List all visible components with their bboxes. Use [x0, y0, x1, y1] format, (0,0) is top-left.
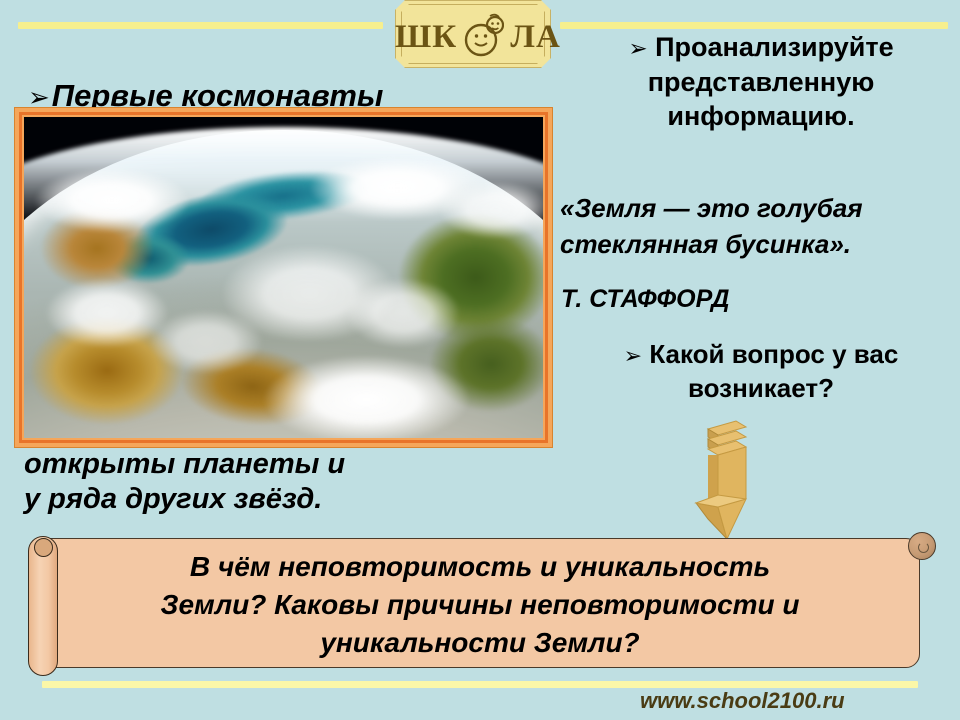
quote-line-1: «Земля — это голубая	[560, 190, 956, 226]
cloud-4	[263, 355, 471, 438]
bullet-arrow-icon: ➢	[624, 343, 642, 368]
scroll-line-1: В чём неповторимость и уникальность	[52, 548, 908, 586]
logo-text-right: ЛА	[510, 19, 560, 55]
scroll-question-text: В чём неповторимость и уникальность Земл…	[52, 548, 908, 662]
quote-line-2: стеклянная бусинка».	[560, 226, 956, 262]
question-line-2: возникает?	[688, 373, 834, 403]
earth-from-orbit-photo	[24, 117, 543, 438]
question-line-1: Какой вопрос у вас	[649, 339, 898, 369]
bullet-arrow-icon: ➢	[628, 35, 647, 61]
instruction-block: ➢ Проанализируйте представленную информа…	[566, 30, 956, 133]
earth-photo-frame	[14, 107, 553, 448]
left-tail-line-1: открыты планеты и	[24, 447, 554, 482]
top-right-accent-rule	[560, 22, 948, 29]
scroll-curl-left	[34, 538, 53, 557]
footer-url: www.school2100.ru	[640, 688, 845, 714]
question-block: ➢ Какой вопрос у вас возникает?	[566, 338, 956, 405]
cloud-1	[34, 168, 190, 232]
scroll-roll-right	[908, 532, 936, 560]
school2100-smiley-logo-icon	[462, 12, 504, 58]
top-left-accent-rule	[18, 22, 383, 29]
scroll-line-2: Земли? Каковы причины неповторимости и	[52, 586, 908, 624]
left-tail-text: открыты планеты и у ряда других звёзд.	[24, 447, 554, 517]
presentation-slide: ШК ЛА ➢Первые космонавты	[0, 0, 960, 720]
cloud-6	[346, 278, 460, 349]
instruction-line-3: информацию.	[667, 101, 854, 131]
scroll-line-3: уникальности Земли?	[52, 624, 908, 662]
instruction-line-2: представленную	[648, 67, 875, 97]
earth-photo-inner-frame	[19, 112, 548, 443]
quote-block: «Земля — это голубая стеклянная бусинка»…	[560, 190, 956, 262]
scroll-banner: В чём неповторимость и уникальность Земл…	[12, 530, 948, 676]
down-arrow-3d-icon	[690, 415, 764, 543]
logo-text-left: ШК	[395, 19, 457, 55]
instruction-line-1: Проанализируйте	[655, 32, 894, 62]
bottom-accent-rule	[42, 681, 918, 688]
left-tail-line-2: у ряда других звёзд.	[24, 482, 554, 517]
cloud-8	[439, 181, 543, 239]
quote-author: Т. СТАФФОРД	[561, 284, 957, 314]
cloud-7	[149, 310, 263, 374]
